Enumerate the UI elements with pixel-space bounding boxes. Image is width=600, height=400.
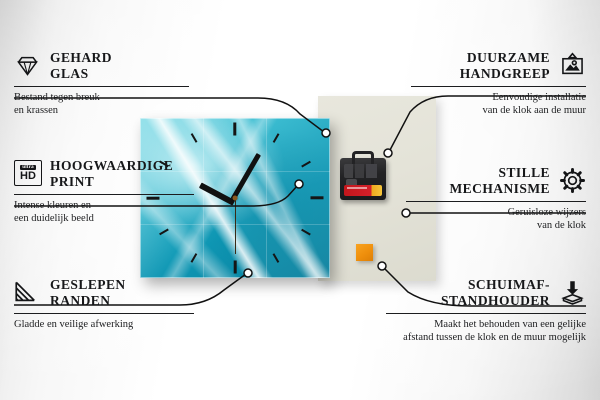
feature-gehard-glas: GEHARD GLAS Bestand tegen breuk en krass… — [14, 50, 189, 117]
desc-line-2: van de klok — [537, 220, 586, 231]
feature-header: STILLE MECHANISME — [406, 165, 586, 196]
hanging-picture-frame-icon — [559, 52, 586, 79]
gear-icon — [559, 167, 586, 194]
feature-divider — [14, 194, 194, 195]
feature-title: GEHARD GLAS — [50, 50, 112, 81]
feature-schuimaf-standhouder: SCHUIMAF- STANDHOUDER Maakt het behouden… — [386, 277, 586, 344]
mechanism-housing-detail — [344, 164, 382, 178]
title-line-1: SCHUIMAF- — [468, 277, 550, 292]
title-line-1: HOOGWAARDIGE — [50, 158, 173, 173]
title-line-2: GLAS — [50, 66, 89, 81]
title-line-2: STANDHOUDER — [441, 293, 550, 308]
title-line-2: RANDEN — [50, 293, 110, 308]
desc-line-1: Intense kleuren en — [14, 200, 91, 211]
title-line-1: DUURZAME — [467, 50, 550, 65]
feature-header: GEHARD GLAS — [14, 50, 189, 81]
desc-line-1: Maakt het behouden van een gelijke — [434, 319, 586, 330]
feature-hoogwaardige-print: ultra HD HOOGWAARDIGE PRINT Intense kleu… — [14, 158, 194, 225]
desc-line-2: afstand tussen de klok en de muur mogeli… — [403, 332, 586, 343]
feature-title: SCHUIMAF- STANDHOUDER — [441, 277, 550, 308]
feature-header: GESLEPEN RANDEN — [14, 277, 194, 308]
feature-description: Bestand tegen breuk en krassen — [14, 92, 189, 117]
diamond-icon — [14, 52, 41, 79]
title-line-2: HANDGREEP — [460, 66, 550, 81]
desc-line-2: een duidelijk beeld — [14, 213, 94, 224]
feature-divider — [14, 86, 189, 87]
desc-line-2: van de klok aan de muur — [482, 105, 586, 116]
feature-description: Gladde en veilige afwerking — [14, 319, 194, 332]
feature-title: DUURZAME HANDGREEP — [460, 50, 550, 81]
feature-title: GESLEPEN RANDEN — [50, 277, 126, 308]
feature-header: ultra HD HOOGWAARDIGE PRINT — [14, 158, 194, 189]
feature-description: Maakt het behouden van een gelijke afsta… — [386, 319, 586, 344]
feature-description: Intense kleuren en een duidelijk beeld — [14, 200, 194, 225]
feature-description: Geruisloze wijzers van de klok — [406, 207, 586, 232]
title-line-1: GEHARD — [50, 50, 112, 65]
feature-description: Eenvoudige installatie van de klok aan d… — [411, 92, 586, 117]
mechanism-battery — [344, 185, 382, 196]
feature-header: SCHUIMAF- STANDHOUDER — [386, 277, 586, 308]
title-line-1: STILLE — [499, 165, 550, 180]
arrow-onto-stack-icon — [559, 279, 586, 306]
feature-duurzame-handgreep: DUURZAME HANDGREEP Eenvoudige installati… — [411, 50, 586, 117]
desc-line-1: Geruisloze wijzers — [508, 207, 586, 218]
clock-mechanism-box — [340, 158, 386, 200]
feature-stille-mechanisme: STILLE MECHANISME Geruisloze wijzers van… — [406, 165, 586, 232]
battery-label-stripe — [347, 187, 367, 189]
desc-line-2: en krassen — [14, 105, 58, 116]
feature-divider — [386, 313, 586, 314]
feature-header: DUURZAME HANDGREEP — [411, 50, 586, 81]
feature-geslepen-randen: GESLEPEN RANDEN Gladde en veilige afwerk… — [14, 277, 194, 332]
mechanism-hanging-loop — [352, 151, 374, 164]
foam-standoff-pad — [356, 244, 373, 261]
title-line-2: PRINT — [50, 174, 94, 189]
infographic-canvas: GEHARD GLAS Bestand tegen breuk en krass… — [0, 0, 600, 400]
beveled-edge-icon — [14, 279, 41, 306]
desc-line-1: Gladde en veilige afwerking — [14, 319, 133, 330]
desc-line-1: Eenvoudige installatie — [492, 92, 586, 103]
hd-badge-small-text: ultra — [20, 165, 36, 170]
feature-divider — [14, 313, 194, 314]
title-line-1: GESLEPEN — [50, 277, 126, 292]
desc-line-1: Bestand tegen breuk — [14, 92, 100, 103]
feature-title: STILLE MECHANISME — [449, 165, 550, 196]
feature-divider — [411, 86, 586, 87]
hd-badge-large-text: HD — [20, 171, 36, 182]
feature-divider — [406, 201, 586, 202]
ultra-hd-badge-icon: ultra HD — [14, 160, 41, 187]
title-line-2: MECHANISME — [449, 181, 550, 196]
feature-title: HOOGWAARDIGE PRINT — [50, 158, 173, 189]
